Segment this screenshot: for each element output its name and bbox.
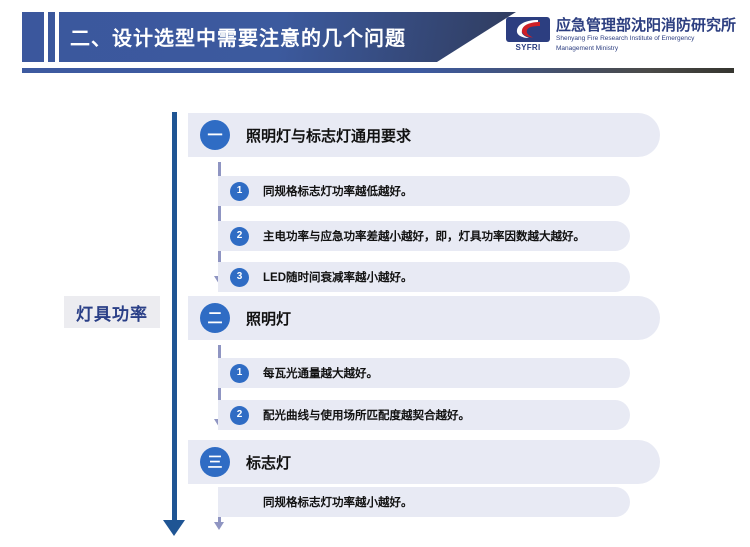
section-header-row[interactable]: 三 标志灯: [188, 440, 660, 484]
section-badge: 三: [200, 447, 230, 477]
item-badge: 1: [230, 364, 249, 383]
section-header-row[interactable]: 一 照明灯与标志灯通用要求: [188, 113, 660, 157]
item-text: 每瓦光通量越大越好。: [263, 365, 378, 381]
main-flow-line: [172, 112, 177, 527]
item-badge: 1: [230, 182, 249, 201]
group-connector-arrowhead-icon: [214, 522, 224, 530]
logo-abbreviation: SYFRI: [506, 43, 550, 52]
item-text: LED随时间衰减率越小越好。: [263, 269, 413, 285]
list-item[interactable]: 同规格标志灯功率越小越好。: [218, 487, 630, 517]
list-item[interactable]: 1 每瓦光通量越大越好。: [218, 358, 630, 388]
flame-swoosh-icon: [512, 19, 544, 40]
item-text: 配光曲线与使用场所匹配度越契合越好。: [263, 407, 470, 423]
logo-mark: SYFRI: [506, 17, 550, 55]
banner-stripe-1: [44, 12, 48, 62]
institute-logo: SYFRI 应急管理部沈阳消防研究所 Shenyang Fire Researc…: [506, 17, 736, 55]
header-divider-rule: [22, 68, 734, 73]
section-badge: 一: [200, 120, 230, 150]
list-item[interactable]: 3 LED随时间衰减率越小越好。: [218, 262, 630, 292]
logo-badge-shape: [506, 17, 550, 42]
page-header: 二、设计选型中需要注意的几个问题 SYFRI 应急管理部沈阳消防研究所 Shen…: [0, 0, 750, 72]
item-badge: 2: [230, 406, 249, 425]
item-text: 同规格标志灯功率越小越好。: [263, 494, 413, 510]
logo-text-block: 应急管理部沈阳消防研究所 Shenyang Fire Research Inst…: [556, 17, 736, 53]
section-title: 照明灯: [246, 308, 291, 329]
section-header-row[interactable]: 二 照明灯: [188, 296, 660, 340]
item-badge: 2: [230, 227, 249, 246]
banner-stripe-2: [55, 12, 59, 62]
page-title: 二、设计选型中需要注意的几个问题: [70, 22, 406, 51]
logo-name-cn: 应急管理部沈阳消防研究所: [556, 17, 736, 34]
logo-name-en-line1: Shenyang Fire Research Institute of Emer…: [556, 35, 736, 44]
section-badge: 二: [200, 303, 230, 333]
item-text: 同规格标志灯功率越低越好。: [263, 183, 413, 199]
item-badge: 3: [230, 268, 249, 287]
list-item[interactable]: 2 主电功率与应急功率差越小越好，即，灯具功率因数越大越好。: [218, 221, 630, 251]
main-flow-arrowhead-icon: [163, 520, 185, 536]
section-title: 标志灯: [246, 452, 291, 473]
logo-name-en-line2: Management Ministry: [556, 45, 736, 54]
item-text: 主电功率与应急功率差越小越好，即，灯具功率因数越大越好。: [263, 228, 585, 244]
side-category-label: 灯具功率: [64, 296, 160, 328]
list-item[interactable]: 1 同规格标志灯功率越低越好。: [218, 176, 630, 206]
section-title: 照明灯与标志灯通用要求: [246, 125, 411, 146]
list-item[interactable]: 2 配光曲线与使用场所匹配度越契合越好。: [218, 400, 630, 430]
